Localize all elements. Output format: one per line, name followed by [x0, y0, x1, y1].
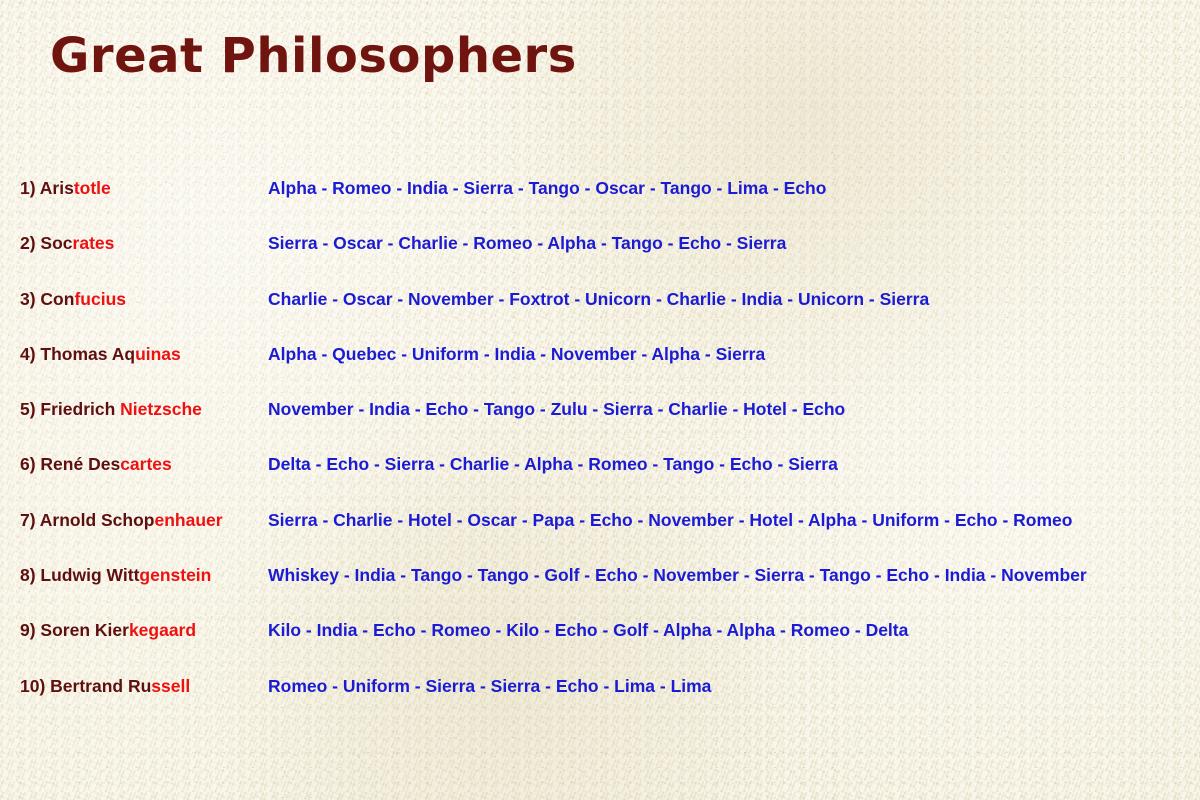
- philosopher-name-suffix: uinas: [135, 344, 181, 364]
- nato-alphabet-code: Sierra - Charlie - Hotel - Oscar - Papa …: [268, 508, 1072, 532]
- philosopher-name-suffix: genstein: [139, 565, 211, 585]
- list-item: 7) Arnold SchopenhauerSierra - Charlie -…: [0, 508, 1200, 563]
- nato-alphabet-code: Kilo - India - Echo - Romeo - Kilo - Ech…: [268, 618, 908, 642]
- nato-alphabet-code: November - India - Echo - Tango - Zulu -…: [268, 397, 845, 421]
- philosopher-name-prefix: 1) Aris: [20, 178, 74, 198]
- philosopher-name-prefix: 7) Arnold Schop: [20, 510, 155, 530]
- nato-alphabet-code: Romeo - Uniform - Sierra - Sierra - Echo…: [268, 674, 711, 698]
- philosopher-name-suffix: fucius: [74, 289, 126, 309]
- philosopher-name: 10) Bertrand Russell: [20, 674, 190, 698]
- philosopher-name-prefix: 4) Thomas Aq: [20, 344, 135, 364]
- list-item: 10) Bertrand RussellRomeo - Uniform - Si…: [0, 674, 1200, 729]
- philosopher-name: 2) Socrates: [20, 231, 114, 255]
- slide-content: Great Philosophers 1) AristotleAlpha - R…: [0, 0, 1200, 800]
- philosopher-name: 9) Soren Kierkegaard: [20, 618, 196, 642]
- philosopher-name-prefix: 3) Con: [20, 289, 74, 309]
- nato-alphabet-code: Alpha - Quebec - Uniform - India - Novem…: [268, 342, 765, 366]
- philosopher-name-suffix: cartes: [120, 454, 172, 474]
- philosopher-name-suffix: Nietzsche: [120, 399, 202, 419]
- page-title: Great Philosophers: [50, 28, 577, 84]
- philosopher-list: 1) AristotleAlpha - Romeo - India - Sier…: [0, 176, 1200, 729]
- philosopher-name-prefix: 8) Ludwig Witt: [20, 565, 139, 585]
- list-item: 5) Friedrich NietzscheNovember - India -…: [0, 397, 1200, 452]
- list-item: 8) Ludwig WittgensteinWhiskey - India - …: [0, 563, 1200, 618]
- philosopher-name-suffix: enhauer: [155, 510, 223, 530]
- philosopher-name-prefix: 2) Soc: [20, 233, 73, 253]
- philosopher-name-suffix: rates: [73, 233, 115, 253]
- philosopher-name-prefix: 9) Soren Kier: [20, 620, 129, 640]
- list-item: 2) SocratesSierra - Oscar - Charlie - Ro…: [0, 231, 1200, 286]
- list-item: 1) AristotleAlpha - Romeo - India - Sier…: [0, 176, 1200, 231]
- philosopher-name-suffix: kegaard: [129, 620, 196, 640]
- philosopher-name: 4) Thomas Aquinas: [20, 342, 181, 366]
- list-item: 4) Thomas AquinasAlpha - Quebec - Unifor…: [0, 342, 1200, 397]
- nato-alphabet-code: Alpha - Romeo - India - Sierra - Tango -…: [268, 176, 826, 200]
- nato-alphabet-code: Whiskey - India - Tango - Tango - Golf -…: [268, 563, 1087, 587]
- philosopher-name-prefix: 6) René Des: [20, 454, 120, 474]
- philosopher-name: 1) Aristotle: [20, 176, 111, 200]
- nato-alphabet-code: Charlie - Oscar - November - Foxtrot - U…: [268, 287, 929, 311]
- nato-alphabet-code: Delta - Echo - Sierra - Charlie - Alpha …: [268, 452, 838, 476]
- nato-alphabet-code: Sierra - Oscar - Charlie - Romeo - Alpha…: [268, 231, 786, 255]
- philosopher-name-prefix: 5) Friedrich: [20, 399, 120, 419]
- list-item: 3) ConfuciusCharlie - Oscar - November -…: [0, 287, 1200, 342]
- philosopher-name: 6) René Descartes: [20, 452, 172, 476]
- philosopher-name-suffix: ssell: [151, 676, 190, 696]
- philosopher-name-prefix: 10) Bertrand Ru: [20, 676, 151, 696]
- philosopher-name: 3) Confucius: [20, 287, 126, 311]
- philosopher-name: 7) Arnold Schopenhauer: [20, 508, 223, 532]
- philosopher-name: 5) Friedrich Nietzsche: [20, 397, 202, 421]
- philosopher-name-suffix: totle: [74, 178, 111, 198]
- list-item: 9) Soren KierkegaardKilo - India - Echo …: [0, 618, 1200, 673]
- list-item: 6) René DescartesDelta - Echo - Sierra -…: [0, 452, 1200, 507]
- philosopher-name: 8) Ludwig Wittgenstein: [20, 563, 211, 587]
